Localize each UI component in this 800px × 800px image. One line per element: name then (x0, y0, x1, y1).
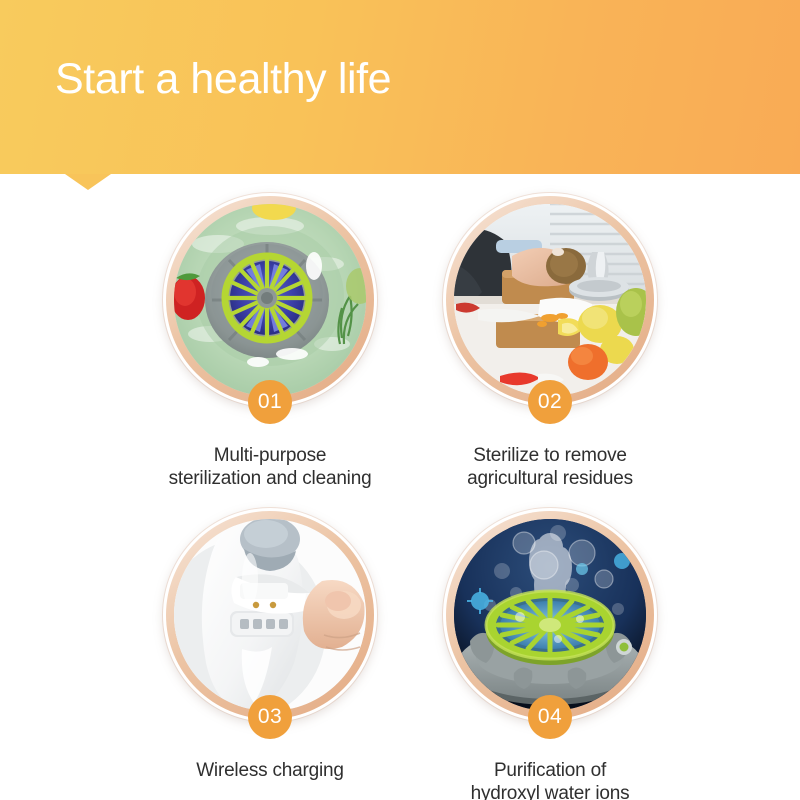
page-title: Start a healthy life (55, 55, 391, 104)
feature-caption-02: Sterilize to remove agricultural residue… (385, 444, 715, 490)
feature-badge-02: 02 (528, 380, 572, 424)
feature-grid: 01 Multi-purpose sterilization and clean… (0, 174, 800, 800)
feature-badge-04: 04 (528, 695, 572, 739)
feature-card-04[interactable]: 04 Purification of hydroxyl water ions (385, 508, 715, 800)
header-banner: Start a healthy life (0, 0, 800, 174)
feature-caption-04: Purification of hydroxyl water ions (385, 759, 715, 800)
caption-line-2: hydroxyl water ions (385, 782, 715, 800)
feature-circle-01: 01 (163, 193, 377, 407)
infographic-page: Start a healthy life (0, 0, 800, 800)
caption-line-2: agricultural residues (385, 467, 715, 490)
feature-photo-01 (174, 204, 366, 396)
feature-photo-02 (454, 204, 646, 396)
feature-badge-01: 01 (248, 380, 292, 424)
caption-line-1: Sterilize to remove (385, 444, 715, 467)
feature-card-02[interactable]: 02 Sterilize to remove agricultural resi… (385, 193, 715, 490)
feature-circle-03: 03 (163, 508, 377, 722)
feature-photo-03 (174, 519, 366, 711)
feature-circle-02: 02 (443, 193, 657, 407)
feature-photo-04 (454, 519, 646, 711)
feature-badge-03: 03 (248, 695, 292, 739)
caption-line-1: Purification of (385, 759, 715, 782)
feature-circle-04: 04 (443, 508, 657, 722)
